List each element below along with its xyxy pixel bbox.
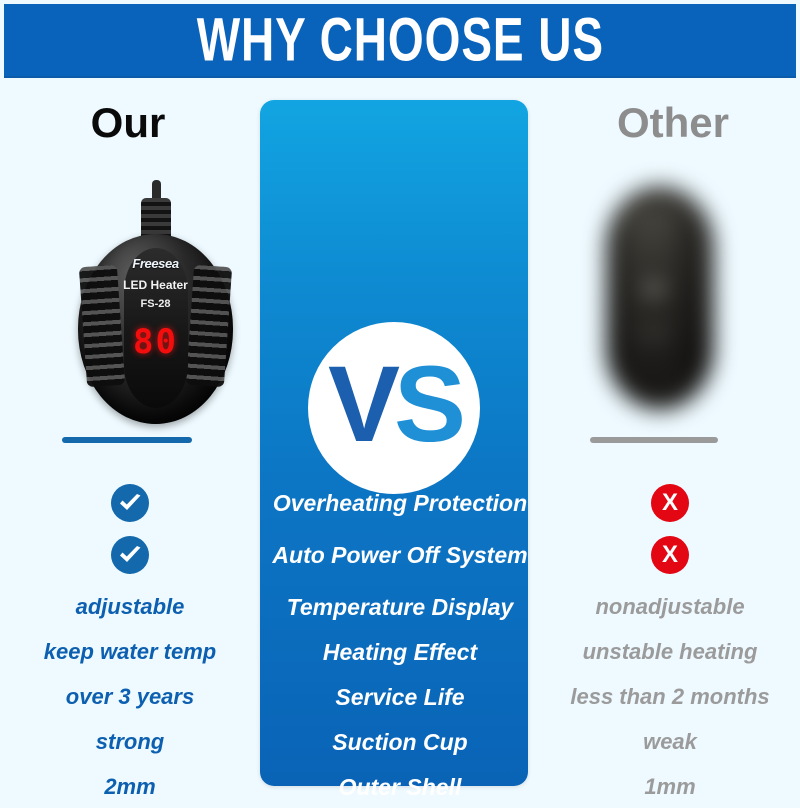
table-row: Overheating Protection X bbox=[0, 482, 800, 524]
other-value: nonadjustable bbox=[595, 596, 744, 618]
our-value: keep water temp bbox=[44, 641, 216, 663]
infographic-page: WHY CHOOSE US Our Other Freesea LED Heat… bbox=[0, 0, 800, 800]
feature-cell: Overheating Protection bbox=[260, 482, 540, 524]
versus-text: VS bbox=[328, 350, 460, 458]
table-row: keep water temp Heating Effect unstable … bbox=[0, 631, 800, 673]
other-cell: X bbox=[540, 482, 800, 524]
feature-label: Overheating Protection bbox=[273, 492, 527, 515]
feature-cell: Outer Shell bbox=[260, 766, 540, 808]
cross-icon: X bbox=[651, 484, 689, 522]
table-row: over 3 years Service Life less than 2 mo… bbox=[0, 676, 800, 718]
other-product-panel bbox=[626, 208, 676, 384]
heater-body: Freesea LED Heater FS-28 80 bbox=[78, 234, 233, 424]
other-cell: nonadjustable bbox=[540, 586, 800, 628]
cross-icon: X bbox=[651, 536, 689, 574]
other-product-image bbox=[596, 178, 724, 418]
table-row: 2mm Outer Shell 1mm bbox=[0, 766, 800, 808]
our-cell: keep water temp bbox=[0, 631, 260, 673]
feature-label: Temperature Display bbox=[287, 596, 514, 619]
our-cell bbox=[0, 534, 260, 576]
column-heading-other: Other bbox=[546, 102, 800, 144]
feature-label: Outer Shell bbox=[339, 776, 462, 799]
other-cell: weak bbox=[540, 721, 800, 763]
feature-label: Auto Power Off System bbox=[272, 544, 527, 567]
brand-logo: Freesea bbox=[78, 256, 233, 271]
feature-label: Suction Cup bbox=[332, 731, 467, 754]
table-row: Auto Power Off System X bbox=[0, 534, 800, 576]
our-product-image: Freesea LED Heater FS-28 80 bbox=[56, 180, 256, 430]
table-row: adjustable Temperature Display nonadjust… bbox=[0, 586, 800, 628]
our-value: 2mm bbox=[104, 776, 155, 798]
our-value: over 3 years bbox=[66, 686, 194, 708]
check-icon bbox=[111, 484, 149, 522]
column-heading-our: Our bbox=[0, 102, 256, 144]
header-banner: WHY CHOOSE US bbox=[4, 4, 796, 78]
other-value: unstable heating bbox=[583, 641, 758, 663]
feature-cell: Suction Cup bbox=[260, 721, 540, 763]
other-product-detail bbox=[640, 328, 668, 338]
our-cell: strong bbox=[0, 721, 260, 763]
our-value: adjustable bbox=[76, 596, 185, 618]
feature-cell: Temperature Display bbox=[260, 586, 540, 628]
other-cell: unstable heating bbox=[540, 631, 800, 673]
feature-cell: Service Life bbox=[260, 676, 540, 718]
other-product-highlight bbox=[644, 282, 664, 296]
feature-label: Heating Effect bbox=[323, 641, 477, 664]
other-value: 1mm bbox=[644, 776, 695, 798]
feature-cell: Auto Power Off System bbox=[260, 534, 540, 576]
product-line-label: LED Heater bbox=[78, 278, 233, 292]
led-temperature-display: 80 bbox=[78, 322, 233, 362]
other-cell: 1mm bbox=[540, 766, 800, 808]
our-cell: over 3 years bbox=[0, 676, 260, 718]
other-cell: less than 2 months bbox=[540, 676, 800, 718]
other-value: less than 2 months bbox=[570, 686, 769, 708]
feature-cell: Heating Effect bbox=[260, 631, 540, 673]
our-cell: 2mm bbox=[0, 766, 260, 808]
feature-label: Service Life bbox=[335, 686, 464, 709]
our-value: strong bbox=[96, 731, 164, 753]
versus-badge: VS bbox=[308, 322, 480, 494]
page-title: WHY CHOOSE US bbox=[196, 10, 603, 71]
our-cell: adjustable bbox=[0, 586, 260, 628]
table-row: strong Suction Cup weak bbox=[0, 721, 800, 763]
versus-letter-s: S bbox=[394, 343, 460, 464]
divider-our bbox=[62, 437, 192, 443]
divider-other bbox=[590, 437, 718, 443]
other-value: weak bbox=[643, 731, 697, 753]
comparison-table: Overheating Protection X Auto Power Off … bbox=[0, 482, 800, 792]
our-cell bbox=[0, 482, 260, 524]
model-label: FS-28 bbox=[78, 298, 233, 310]
versus-letter-v: V bbox=[328, 343, 394, 464]
check-icon bbox=[111, 536, 149, 574]
other-cell: X bbox=[540, 534, 800, 576]
